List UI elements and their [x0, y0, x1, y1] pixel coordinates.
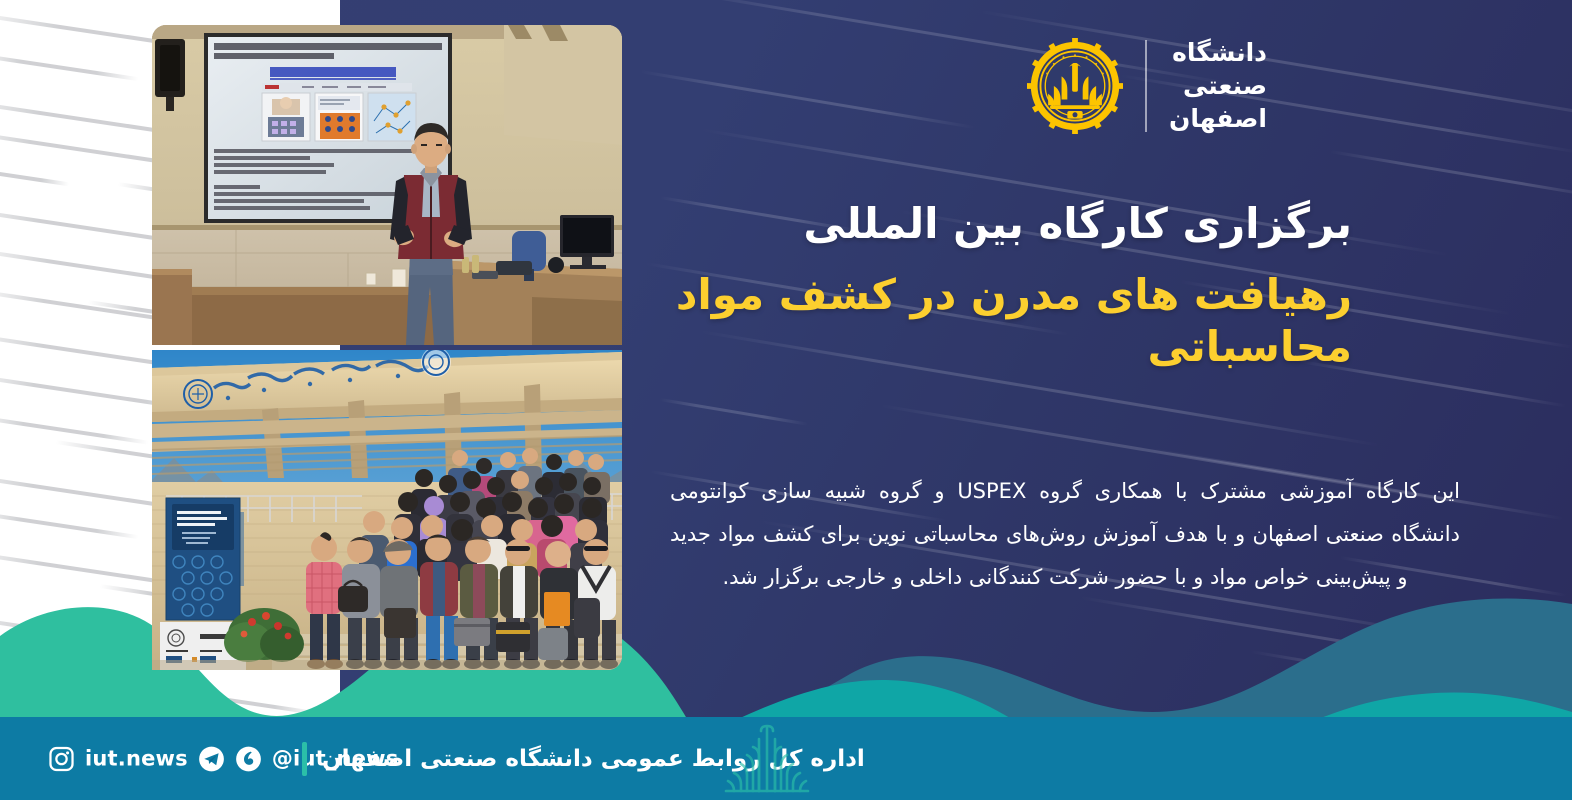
- brand-vertical-rule: [1145, 40, 1147, 132]
- title-line-2: رهیافت های مدرن در کشف مواد محاسباتی: [592, 269, 1352, 374]
- title-line-1: برگزاری کارگاه بین المللی: [592, 198, 1352, 251]
- brand-lockup: دانشگاه صنعتی اصفهان: [1027, 36, 1267, 135]
- brand-line-1: دانشگاه: [1169, 36, 1267, 69]
- title-block: برگزاری کارگاه بین المللی رهیافت های مدر…: [592, 198, 1352, 374]
- body-paragraph-block: این کارگاه آموزشی مشترک با همکاری گروه U…: [670, 470, 1460, 599]
- group-photo[interactable]: [152, 350, 622, 670]
- brand-line-3: اصفهان: [1169, 102, 1267, 135]
- instagram-icon[interactable]: [48, 745, 75, 772]
- brand-line-2: صنعتی: [1169, 69, 1267, 102]
- instagram-handle[interactable]: iut.news: [85, 747, 188, 771]
- bale-icon[interactable]: [235, 745, 262, 772]
- building-watermark-icon: [718, 721, 816, 797]
- body-paragraph: این کارگاه آموزشی مشترک با همکاری گروه U…: [670, 470, 1460, 599]
- iut-seal-icon: [1027, 38, 1123, 134]
- footer-divider: [302, 742, 307, 776]
- telegram-icon[interactable]: [198, 745, 225, 772]
- footer-bar: iut.news @iut_news اداره کل روابط عمومی …: [0, 717, 1572, 800]
- lecture-photo[interactable]: [152, 25, 622, 345]
- poster-canvas: iut.news @iut_news اداره کل روابط عمومی …: [0, 0, 1572, 800]
- brand-name-text: دانشگاه صنعتی اصفهان: [1147, 36, 1267, 135]
